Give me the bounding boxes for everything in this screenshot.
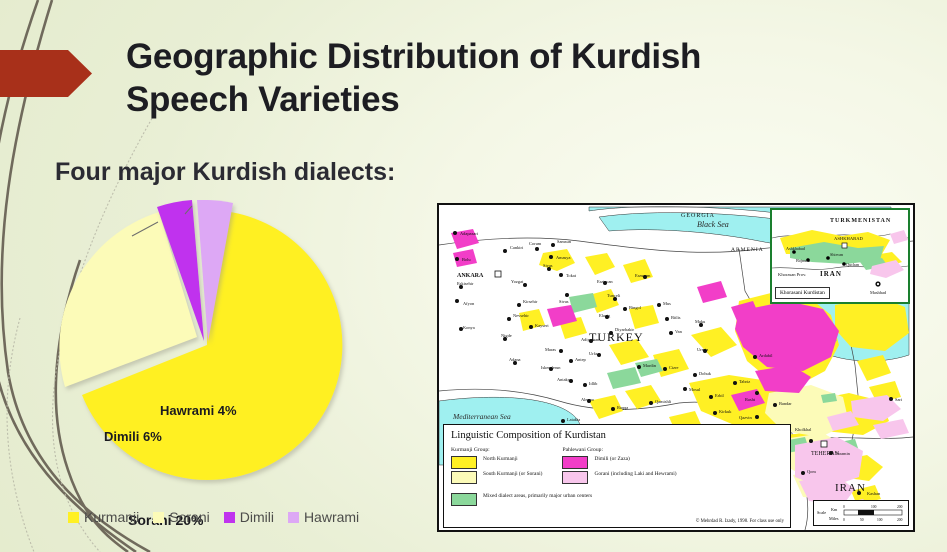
svg-text:0: 0 bbox=[843, 505, 845, 509]
svg-text:0: 0 bbox=[843, 518, 845, 522]
svg-text:Diyarbakir: Diyarbakir bbox=[615, 327, 635, 332]
svg-text:Mashhad: Mashhad bbox=[870, 290, 887, 295]
page-title: Geographic Distribution of Kurdish Speec… bbox=[126, 36, 826, 121]
legend-label-kurmanji: Kurmanji bbox=[84, 509, 139, 525]
map-legend-group-pahlewani: Pahlewani Group: Dimili (or Zaza) Gorani… bbox=[542, 447, 676, 486]
legend-swatch-dimili bbox=[224, 512, 235, 523]
svg-text:Urfa: Urfa bbox=[589, 351, 597, 356]
svg-text:Qazvin: Qazvin bbox=[739, 415, 752, 420]
legend-item-hawrami: Hawrami bbox=[288, 509, 359, 525]
map-label-iran: IRAN bbox=[835, 482, 866, 494]
svg-text:Erbil: Erbil bbox=[715, 393, 725, 398]
svg-text:Maku: Maku bbox=[695, 319, 706, 324]
map-legend-title: Linguistic Composition of Kurdistan bbox=[451, 430, 790, 441]
svg-text:Idlib: Idlib bbox=[589, 381, 598, 386]
map-legend-label-north-kurmanji: North Kurmanji bbox=[483, 456, 518, 463]
svg-text:Km: Km bbox=[831, 507, 838, 512]
map-legend-label-south-kurmanji: South Kurmanji (or Sorani) bbox=[483, 471, 542, 478]
svg-text:200: 200 bbox=[897, 505, 903, 509]
pie-label-dimili: Dimili 6% bbox=[104, 429, 162, 444]
map-label-mediterranean-sea: Mediterranean Sea bbox=[452, 412, 511, 421]
svg-text:100: 100 bbox=[877, 518, 883, 522]
svg-text:Nigde: Nigde bbox=[501, 333, 512, 338]
svg-text:Maras: Maras bbox=[545, 347, 556, 352]
svg-text:Dohuk: Dohuk bbox=[699, 371, 712, 376]
svg-text:Kirsehir: Kirsehir bbox=[523, 299, 538, 304]
svg-text:100: 100 bbox=[871, 505, 877, 509]
svg-text:Cizre: Cizre bbox=[669, 365, 679, 370]
svg-text:Cankiri: Cankiri bbox=[510, 245, 524, 250]
svg-text:Corum: Corum bbox=[529, 241, 542, 246]
legend-item-sorani: Sorani bbox=[153, 509, 209, 525]
svg-text:Mardin: Mardin bbox=[643, 363, 657, 368]
svg-text:Scale: Scale bbox=[817, 510, 826, 515]
map-legend-row-north-kurmanji: North Kurmanji bbox=[451, 456, 542, 469]
svg-text:Raqqa: Raqqa bbox=[617, 405, 628, 410]
legend-swatch-hawrami bbox=[288, 512, 299, 523]
svg-text:Tabriz: Tabriz bbox=[739, 379, 750, 384]
svg-text:TURKMENISTAN: TURKMENISTAN bbox=[830, 218, 891, 224]
map-legend-swatch-mixed bbox=[451, 493, 477, 506]
svg-text:Iskenderun: Iskenderun bbox=[541, 365, 561, 370]
svg-text:Tunceli: Tunceli bbox=[607, 293, 621, 298]
map-legend: Linguistic Composition of Kurdistan Kurm… bbox=[443, 424, 791, 528]
svg-text:Bingol: Bingol bbox=[629, 305, 642, 310]
svg-text:Kayseri: Kayseri bbox=[535, 323, 549, 328]
svg-text:Mus: Mus bbox=[663, 301, 671, 306]
map-scale-bar: Scale Km Miles 0 100 200 0 50 100 200 bbox=[813, 500, 909, 526]
legend-label-dimili: Dimili bbox=[240, 509, 274, 525]
legend-label-hawrami: Hawrami bbox=[304, 509, 359, 525]
map-label-georgia: GEORGIA bbox=[681, 213, 715, 219]
map-legend-label-gorani: Gorani (including Laki and Hewrami) bbox=[594, 471, 676, 478]
svg-text:Khorasan Prov.: Khorasan Prov. bbox=[778, 272, 806, 277]
map-legend-group-kurmanji: Kurmanji Group: North Kurmanji South Kur… bbox=[444, 447, 542, 486]
svg-text:Mosul: Mosul bbox=[689, 387, 701, 392]
map-label-ankara: ANKARA bbox=[457, 273, 484, 279]
pie-chart: Kurmanji 70% Sorani 20% Dimili 6% Hawram… bbox=[40, 200, 400, 500]
title-accent-arrow bbox=[0, 50, 92, 97]
map-legend-group-title-kurmanji: Kurmanji Group: bbox=[451, 447, 542, 453]
svg-text:Bolu: Bolu bbox=[462, 257, 471, 262]
map-legend-row-dimili: Dimili (or Zaza) bbox=[562, 456, 676, 469]
svg-text:Amasya: Amasya bbox=[556, 255, 570, 260]
svg-text:Yozgat: Yozgat bbox=[511, 279, 524, 284]
svg-text:Erzincan: Erzincan bbox=[597, 279, 613, 284]
svg-text:Bojnurd: Bojnurd bbox=[796, 258, 811, 263]
svg-text:Latakia: Latakia bbox=[567, 417, 580, 422]
legend-item-dimili: Dimili bbox=[224, 509, 274, 525]
map-legend-group-title-pahlewani: Pahlewani Group: bbox=[562, 447, 676, 453]
map-label-black-sea: Black Sea bbox=[697, 220, 729, 229]
svg-text:Qom: Qom bbox=[807, 469, 816, 474]
svg-text:Samsun: Samsun bbox=[557, 239, 572, 244]
svg-text:Ardabil: Ardabil bbox=[759, 353, 773, 358]
subtitle: Four major Kurdish dialects: bbox=[55, 158, 395, 187]
svg-text:Antakya: Antakya bbox=[557, 377, 572, 382]
svg-text:200: 200 bbox=[897, 518, 903, 522]
svg-text:Kashan: Kashan bbox=[867, 491, 881, 496]
svg-text:Aleppo: Aleppo bbox=[581, 397, 595, 402]
svg-text:Bandar: Bandar bbox=[779, 401, 792, 406]
map-label-armenia: ARMENIA bbox=[731, 247, 764, 253]
svg-text:Sivas: Sivas bbox=[543, 263, 553, 268]
svg-text:Erzurum: Erzurum bbox=[635, 273, 651, 278]
svg-text:Sivas: Sivas bbox=[559, 299, 569, 304]
svg-text:Quchan: Quchan bbox=[846, 262, 860, 267]
svg-text:Adapazari: Adapazari bbox=[460, 231, 479, 236]
svg-text:Miles: Miles bbox=[829, 516, 839, 521]
svg-text:Varamin: Varamin bbox=[835, 451, 851, 456]
legend-label-sorani: Sorani bbox=[169, 509, 209, 525]
svg-text:Bitlis: Bitlis bbox=[671, 315, 681, 320]
svg-text:Elazig: Elazig bbox=[599, 313, 611, 318]
khorasani-kurdistan-box: Khorasani Kurdistan bbox=[775, 287, 830, 299]
legend-swatch-kurmanji bbox=[68, 512, 79, 523]
svg-text:Afyon: Afyon bbox=[463, 301, 475, 306]
khorasan-inset-map: TURKMENISTAN ASHKHABAD IRAN Khorasan Pro… bbox=[770, 208, 910, 304]
kurdistan-dialect-map[interactable]: Black Sea Caspian Sea Mediterranean Sea … bbox=[437, 203, 915, 532]
svg-text:Nevsehir: Nevsehir bbox=[513, 313, 529, 318]
svg-text:Antep: Antep bbox=[575, 357, 587, 362]
map-legend-swatch-dimili bbox=[562, 456, 588, 469]
svg-text:Adana: Adana bbox=[509, 357, 521, 362]
svg-text:Eskisehir: Eskisehir bbox=[457, 281, 474, 286]
svg-text:Konya: Konya bbox=[463, 325, 475, 330]
svg-text:Shirvan: Shirvan bbox=[830, 252, 844, 257]
map-legend-swatch-gorani bbox=[562, 471, 588, 484]
legend-swatch-sorani bbox=[153, 512, 164, 523]
map-legend-label-mixed: Mixed dialect areas, primarily major urb… bbox=[483, 493, 592, 500]
svg-text:Van: Van bbox=[675, 329, 683, 334]
map-legend-label-dimili: Dimili (or Zaza) bbox=[594, 456, 629, 463]
legend-item-kurmanji: Kurmanji bbox=[68, 509, 139, 525]
slide-canvas: Geographic Distribution of Kurdish Speec… bbox=[0, 0, 947, 552]
map-legend-row-mixed: Mixed dialect areas, primarily major urb… bbox=[451, 493, 790, 506]
svg-text:Sari: Sari bbox=[895, 397, 903, 402]
svg-text:IRAN: IRAN bbox=[820, 270, 842, 278]
svg-text:Kirkuk: Kirkuk bbox=[719, 409, 732, 414]
svg-text:Ashkhabad: Ashkhabad bbox=[786, 246, 806, 251]
map-legend-row-gorani: Gorani (including Laki and Hewrami) bbox=[562, 471, 676, 484]
map-credit: © Mehrdad R. Izady, 1998. For class use … bbox=[696, 519, 784, 524]
svg-text:ASHKHABAD: ASHKHABAD bbox=[834, 236, 864, 241]
svg-text:Rasht: Rasht bbox=[745, 397, 756, 402]
map-legend-swatch-north-kurmanji bbox=[451, 456, 477, 469]
svg-text:Qamishli: Qamishli bbox=[655, 399, 672, 404]
svg-text:50: 50 bbox=[860, 518, 864, 522]
map-legend-row-south-kurmanji: South Kurmanji (or Sorani) bbox=[451, 471, 542, 484]
map-legend-swatch-south-kurmanji bbox=[451, 471, 477, 484]
pie-label-hawrami: Hawrami 4% bbox=[160, 403, 237, 418]
svg-text:Adiyaman: Adiyaman bbox=[581, 337, 600, 342]
pie-chart-legend: Kurmanji Sorani Dimili Hawrami bbox=[68, 509, 359, 525]
svg-text:Tokat: Tokat bbox=[566, 273, 577, 278]
svg-text:Urmia: Urmia bbox=[697, 347, 708, 352]
svg-text:Kholkhal: Kholkhal bbox=[795, 427, 812, 432]
